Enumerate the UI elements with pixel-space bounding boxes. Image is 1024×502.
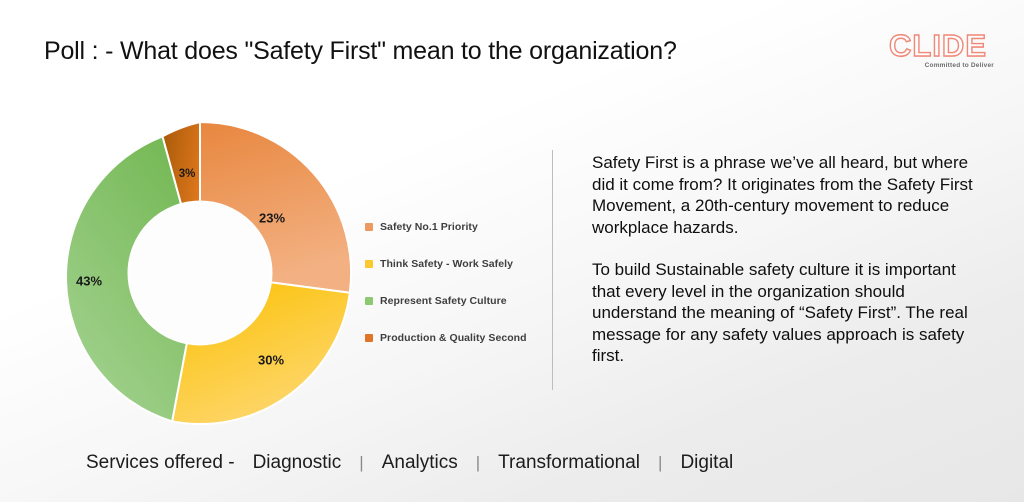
- footer-lead-label: Services offered -: [86, 452, 235, 474]
- slice-value-label-think-safety-work-safely: 30%: [258, 352, 284, 367]
- slice-value-label-represent-safety-culture: 43%: [76, 273, 102, 288]
- footer-separator: |: [460, 453, 496, 473]
- legend-item-label: Production & Quality Second: [380, 332, 527, 344]
- description-paragraph-1: Safety First is a phrase we’ve all heard…: [592, 152, 974, 238]
- footer-item-analytics[interactable]: Analytics: [380, 452, 460, 474]
- slice-value-label-production-quality-second: 3%: [179, 168, 196, 180]
- page-title: Poll : - What does "Safety First" mean t…: [44, 35, 677, 67]
- footer-item-transformational[interactable]: Transformational: [496, 452, 642, 474]
- slice-value-label-safety-no1-priority: 23%: [259, 210, 285, 225]
- legend-swatch-icon: [365, 297, 373, 305]
- legend-item-label: Represent Safety Culture: [380, 295, 507, 307]
- legend-swatch-icon: [365, 223, 373, 231]
- legend-item-think-safety-work-safely[interactable]: Think Safety - Work Safely: [365, 245, 545, 282]
- chart-legend: Safety No.1 Priority Think Safety - Work…: [365, 208, 545, 356]
- legend-item-label: Safety No.1 Priority: [380, 221, 478, 233]
- legend-item-label: Think Safety - Work Safely: [380, 258, 513, 270]
- logo-wordmark: CLIDE: [878, 30, 998, 62]
- description-panel: Safety First is a phrase we’ve all heard…: [592, 152, 974, 367]
- footer-services: Services offered - Diagnostic | Analytic…: [86, 452, 735, 474]
- footer-item-diagnostic[interactable]: Diagnostic: [251, 452, 344, 474]
- legend-swatch-icon: [365, 260, 373, 268]
- donut-chart-svg: 23% 30% 43% 3%: [48, 122, 352, 424]
- vertical-divider: [552, 150, 553, 390]
- description-paragraph-2: To build Sustainable safety culture it i…: [592, 259, 974, 367]
- donut-hole: [129, 202, 272, 345]
- slide: Poll : - What does "Safety First" mean t…: [0, 0, 1024, 502]
- donut-chart: 23% 30% 43% 3%: [48, 122, 352, 424]
- legend-item-safety-no1-priority[interactable]: Safety No.1 Priority: [365, 208, 545, 245]
- legend-swatch-icon: [365, 334, 373, 342]
- footer-item-digital[interactable]: Digital: [678, 452, 735, 474]
- footer-separator: |: [642, 453, 678, 473]
- clide-logo: CLIDE Committed to Deliver: [878, 30, 998, 72]
- legend-item-production-quality-second[interactable]: Production & Quality Second: [365, 319, 545, 356]
- legend-item-represent-safety-culture[interactable]: Represent Safety Culture: [365, 282, 545, 319]
- footer-separator: |: [343, 453, 379, 473]
